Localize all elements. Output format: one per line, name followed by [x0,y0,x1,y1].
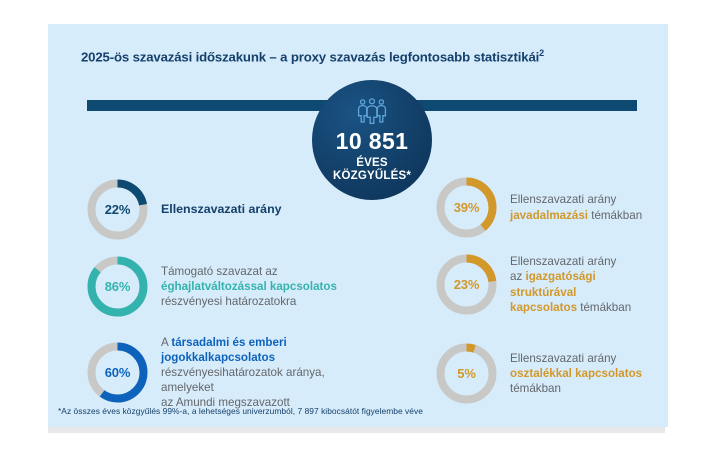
stat-description: Ellenszavazati arányosztalékkal kapcsola… [510,351,642,396]
stat-line: Ellenszavazati arány [510,352,616,365]
stat-row-right-1: 39%Ellenszavazati arányjavadalmazási tém… [435,176,685,239]
stat-description: Ellenszavazati arány [161,201,282,217]
donut-percent-value: 86% [86,255,149,318]
stat-row-right-3: 5%Ellenszavazati arányosztalékkal kapcso… [435,342,685,405]
donut-percent-value: 39% [435,176,498,239]
donut-percent-value: 22% [86,178,149,241]
stat-row-left-3: 60%A társadalmi és emberi jogokkalkapcso… [86,335,361,410]
stat-line-highlight: osztalékkal kapcsolatos [510,367,642,380]
stat-line: részvényesi határozatokra [161,295,296,308]
hub-label-line1: ÉVES [356,157,387,169]
stat-line: részvényesi [161,366,222,379]
stat-row-right-2: 23%Ellenszavazati arányaz igazgatóságist… [435,253,685,316]
donut-chart: 22% [86,178,149,241]
page-title: 2025-ös szavazási időszakunk – a proxy s… [81,48,544,64]
donut-chart: 23% [435,253,498,316]
stat-description: A társadalmi és emberi jogokkalkapcsolat… [161,335,361,410]
stat-description: Támogató szavazat azéghajlatváltozással … [161,264,337,309]
stat-line-highlight: kapcsolatos [510,301,577,314]
donut-chart: 5% [435,342,498,405]
stat-line: az [510,270,525,283]
page-title-superscript: 2 [539,48,544,58]
hub-value: 10 851 [336,130,409,153]
donut-chart: 86% [86,255,149,318]
stat-line: Támogató szavazat az [161,265,278,278]
stat-line-highlight: éghajlatváltozással kapcsolatos [161,280,337,293]
stat-line-highlight: igazgatósági [525,270,595,283]
stat-description: Ellenszavazati arányjavadalmazási témákb… [510,192,642,222]
donut-chart: 39% [435,176,498,239]
donut-chart: 60% [86,341,149,404]
page-title-text: 2025-ös szavazási időszakunk – a proxy s… [81,49,539,64]
stat-line-highlight: struktúrával [510,286,576,299]
stat-line: Ellenszavazati arány [510,193,616,206]
card-shadow-strip [48,427,665,433]
donut-percent-value: 60% [86,341,149,404]
stat-line: Ellenszavazati arány [161,202,282,216]
stat-description: Ellenszavazati arányaz igazgatóságistruk… [510,254,631,314]
stat-row-left-1: 22%Ellenszavazati arány [86,178,361,241]
footnote: *Az összes éves közgyűlés 99%-a, a lehet… [58,406,423,416]
stat-line: A [161,336,171,349]
stat-line: Ellenszavazati arány [510,255,616,268]
donut-percent-value: 23% [435,253,498,316]
stat-row-left-2: 86%Támogató szavazat azéghajlatváltozáss… [86,255,361,318]
people-group-icon [355,98,389,124]
donut-percent-value: 5% [435,342,498,405]
infographic-card: 2025-ös szavazási időszakunk – a proxy s… [48,24,668,427]
stat-line: témákban [510,382,561,395]
stat-line-highlight: javadalmazási [510,209,588,222]
stat-line-highlight: kapcsolatos [208,351,275,364]
stat-line: témákban [588,209,642,222]
stat-line: témákban [577,301,631,314]
